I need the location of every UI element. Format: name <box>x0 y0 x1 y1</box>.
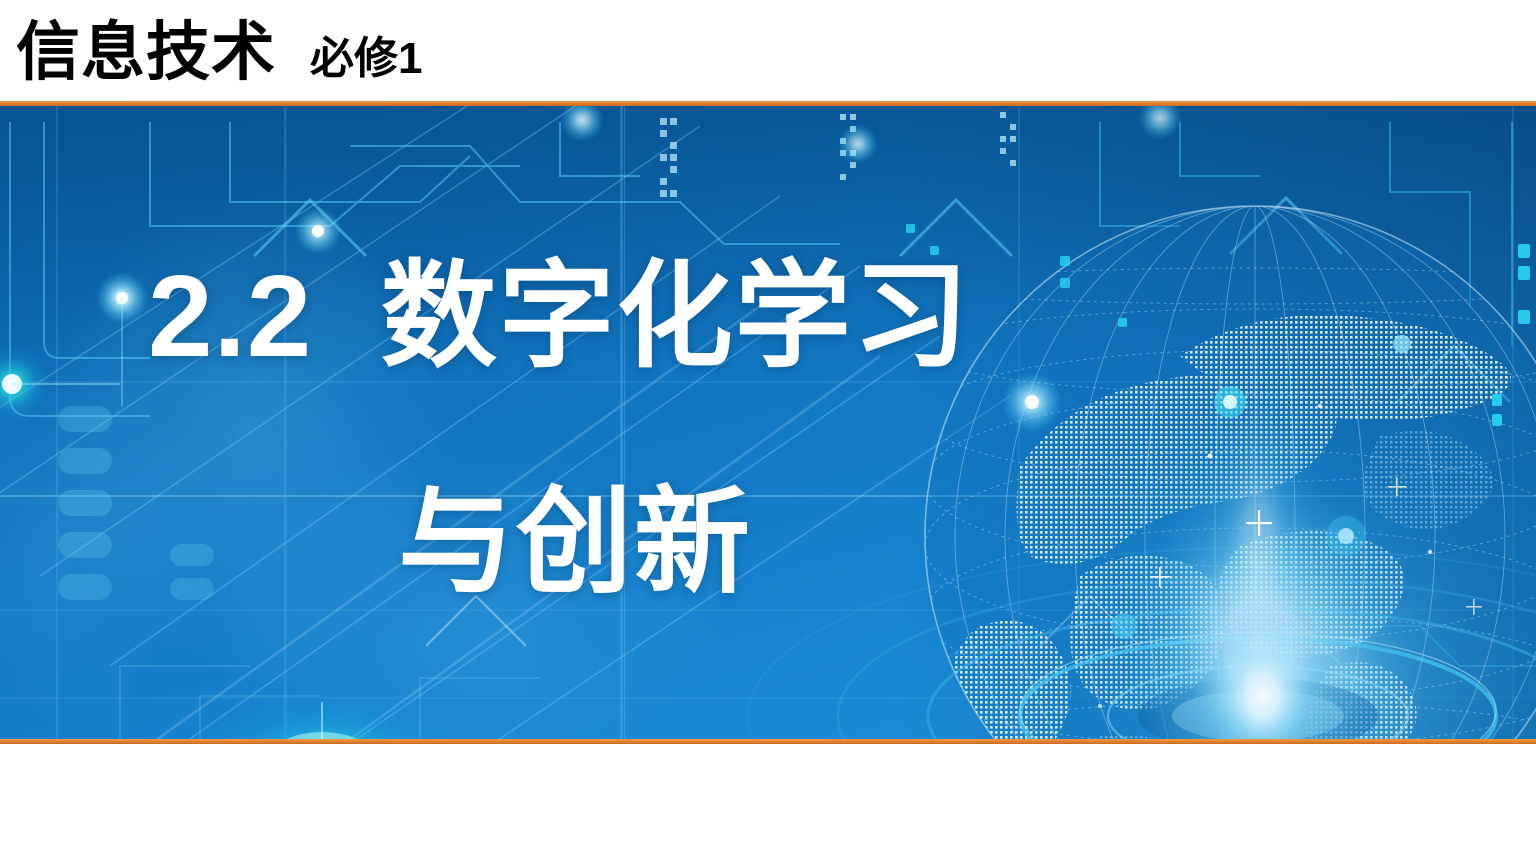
slide-header: 信息技术 必修1 <box>0 0 1536 104</box>
banner-image <box>0 106 1536 740</box>
top-divider-rule <box>0 101 1536 106</box>
banner-artwork <box>0 106 1536 740</box>
subject-title: 信息技术 <box>16 20 276 84</box>
bottom-divider-rule <box>0 739 1536 744</box>
slide-root: 信息技术 必修1 <box>0 0 1536 864</box>
course-label: 必修1 <box>310 37 422 81</box>
